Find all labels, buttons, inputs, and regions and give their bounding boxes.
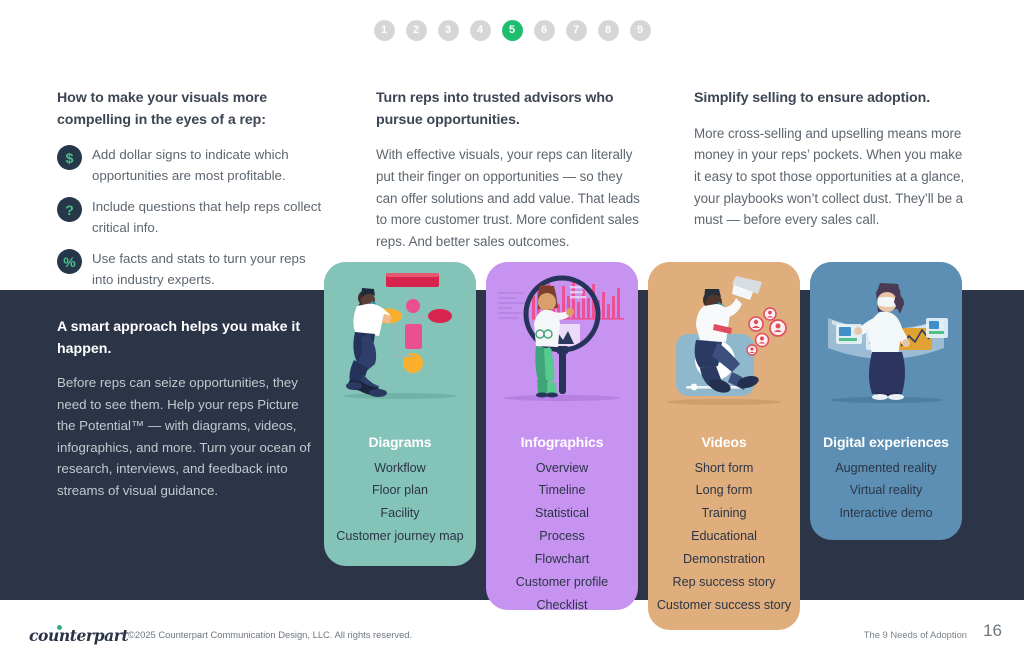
dollar-sign-icon: $ (57, 145, 82, 170)
page-footer: counterpart ©2025 Counterpart Communicat… (0, 618, 1024, 663)
list-item: Short form (648, 457, 800, 480)
list-item: % Use facts and stats to turn your reps … (57, 248, 322, 290)
list-item-text: Add dollar signs to indicate which oppor… (92, 144, 322, 186)
column-left: How to make your visuals more compelling… (57, 88, 322, 300)
list-item: Facility (324, 503, 476, 526)
pagination-step-8[interactable]: 8 (598, 20, 619, 41)
percent-icon: % (57, 249, 82, 274)
panel-body: Before reps can seize opportunities, the… (57, 372, 313, 501)
list-item: Flowchart (486, 549, 638, 572)
list-item: Workflow (324, 457, 476, 480)
list-item: Interactive demo (810, 503, 962, 526)
pagination-step-7[interactable]: 7 (566, 20, 587, 41)
person-arranging-flowchart-illustration (324, 262, 476, 420)
card-diagrams-title: Diagrams (324, 420, 476, 450)
column-middle: Turn reps into trusted advisors who purs… (376, 88, 644, 253)
slide-page: 1 2 3 4 5 6 7 8 9 How to make your visua… (0, 0, 1024, 663)
card-videos-list: Short form Long form Training Educationa… (648, 450, 800, 617)
pagination-step-9[interactable]: 9 (630, 20, 651, 41)
list-item: Overview (486, 457, 638, 480)
document-title: The 9 Needs of Adoption (864, 629, 967, 640)
pagination-step-3[interactable]: 3 (438, 20, 459, 41)
column-middle-body: With effective visuals, your reps can li… (376, 144, 644, 253)
page-number: 16 (983, 621, 1002, 641)
card-digital-experiences-title: Digital experiences (810, 420, 962, 450)
column-middle-heading: Turn reps into trusted advisors who purs… (376, 88, 644, 131)
benefits-list: $ Add dollar signs to indicate which opp… (57, 144, 322, 290)
column-right-heading: Simplify selling to ensure adoption. (694, 88, 966, 110)
card-infographics-list: Overview Timeline Statistical Process Fl… (486, 450, 638, 610)
list-item: Floor plan (324, 480, 476, 503)
list-item: Customer journey map (324, 526, 476, 549)
panel-heading: A smart approach helps you make it happe… (57, 316, 313, 360)
list-item: Demonstration (648, 549, 800, 572)
list-item: Checklist (486, 594, 638, 610)
list-item: Virtual reality (810, 480, 962, 503)
pagination-step-4[interactable]: 4 (470, 20, 491, 41)
list-item-text: Include questions that help reps collect… (92, 196, 322, 238)
woman-with-vr-headset-curved-screen-illustration (810, 262, 962, 420)
list-item-text: Use facts and stats to turn your reps in… (92, 248, 322, 290)
card-infographics[interactable]: Infographics Overview Timeline Statistic… (486, 262, 638, 610)
card-videos-title: Videos (648, 420, 800, 450)
card-diagrams[interactable]: Diagrams Workflow Floor plan Facility Cu… (324, 262, 476, 566)
panel-text-block: A smart approach helps you make it happe… (57, 316, 313, 501)
card-videos[interactable]: Videos Short form Long form Training Edu… (648, 262, 800, 630)
column-left-heading: How to make your visuals more compelling… (57, 88, 322, 131)
logo-text: counterpart (29, 626, 128, 645)
person-with-megaphone-on-video-player-illustration (648, 262, 800, 420)
list-item: Statistical (486, 503, 638, 526)
list-item: Long form (648, 480, 800, 503)
copyright-text: ©2025 Counterpart Communication Design, … (128, 629, 412, 640)
counterpart-logo: counterpart (29, 626, 128, 645)
list-item: Timeline (486, 480, 638, 503)
list-item: $ Add dollar signs to indicate which opp… (57, 144, 322, 186)
list-item: Process (486, 526, 638, 549)
top-columns: How to make your visuals more compelling… (0, 88, 1024, 268)
pagination-step-1[interactable]: 1 (374, 20, 395, 41)
step-pagination: 1 2 3 4 5 6 7 8 9 (0, 20, 1024, 41)
card-digital-experiences[interactable]: Digital experiences Augmented reality Vi… (810, 262, 962, 540)
column-right-body: More cross-selling and upselling means m… (694, 123, 966, 232)
list-item: Augmented reality (810, 457, 962, 480)
card-diagrams-list: Workflow Floor plan Facility Customer jo… (324, 450, 476, 549)
list-item: ? Include questions that help reps colle… (57, 196, 322, 238)
list-item: Training (648, 503, 800, 526)
pagination-step-2[interactable]: 2 (406, 20, 427, 41)
list-item: Customer success story (648, 594, 800, 617)
pagination-step-5-active[interactable]: 5 (502, 20, 523, 41)
card-infographics-title: Infographics (486, 420, 638, 450)
list-item: Customer profile (486, 571, 638, 594)
woman-with-magnifying-glass-charts-illustration (486, 262, 638, 420)
pagination-step-6[interactable]: 6 (534, 20, 555, 41)
column-right: Simplify selling to ensure adoption. Mor… (694, 88, 966, 231)
list-item: Educational (648, 526, 800, 549)
card-digital-experiences-list: Augmented reality Virtual reality Intera… (810, 450, 962, 526)
question-mark-icon: ? (57, 197, 82, 222)
logo-dot-icon (57, 625, 62, 630)
list-item: Rep success story (648, 571, 800, 594)
